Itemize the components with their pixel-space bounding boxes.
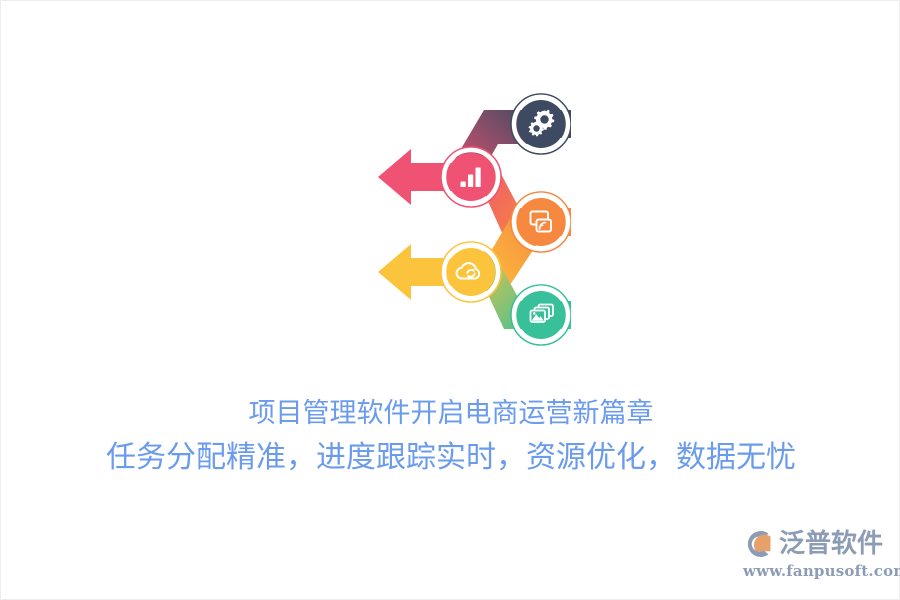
- watermark-brand-row: 泛普软件: [743, 525, 885, 563]
- fanpu-logo-icon: [743, 527, 777, 561]
- process-arrow-infographic: [271, 76, 571, 351]
- node-screencast[interactable]: [511, 192, 571, 252]
- page-canvas: 项目管理软件开启电商运营新篇章 任务分配精准，进度跟踪实时，资源优化，数据无忧 …: [0, 0, 900, 600]
- watermark-brand-name: 泛普软件: [779, 529, 883, 559]
- watermark-url: www.fanpusoft.com: [743, 562, 885, 580]
- node-gears[interactable]: [511, 94, 571, 154]
- watermark: 泛普软件 www.fanpusoft.com: [743, 525, 885, 589]
- caption-block: 项目管理软件开启电商运营新篇章 任务分配精准，进度跟踪实时，资源优化，数据无忧: [1, 393, 900, 481]
- node-gallery[interactable]: [511, 285, 571, 345]
- caption-line-1: 项目管理软件开启电商运营新篇章: [1, 393, 900, 435]
- node-cloud-sync[interactable]: [441, 242, 501, 302]
- node-bar-chart[interactable]: [441, 147, 501, 207]
- caption-line-2: 任务分配精准，进度跟踪实时，资源优化，数据无忧: [1, 435, 900, 481]
